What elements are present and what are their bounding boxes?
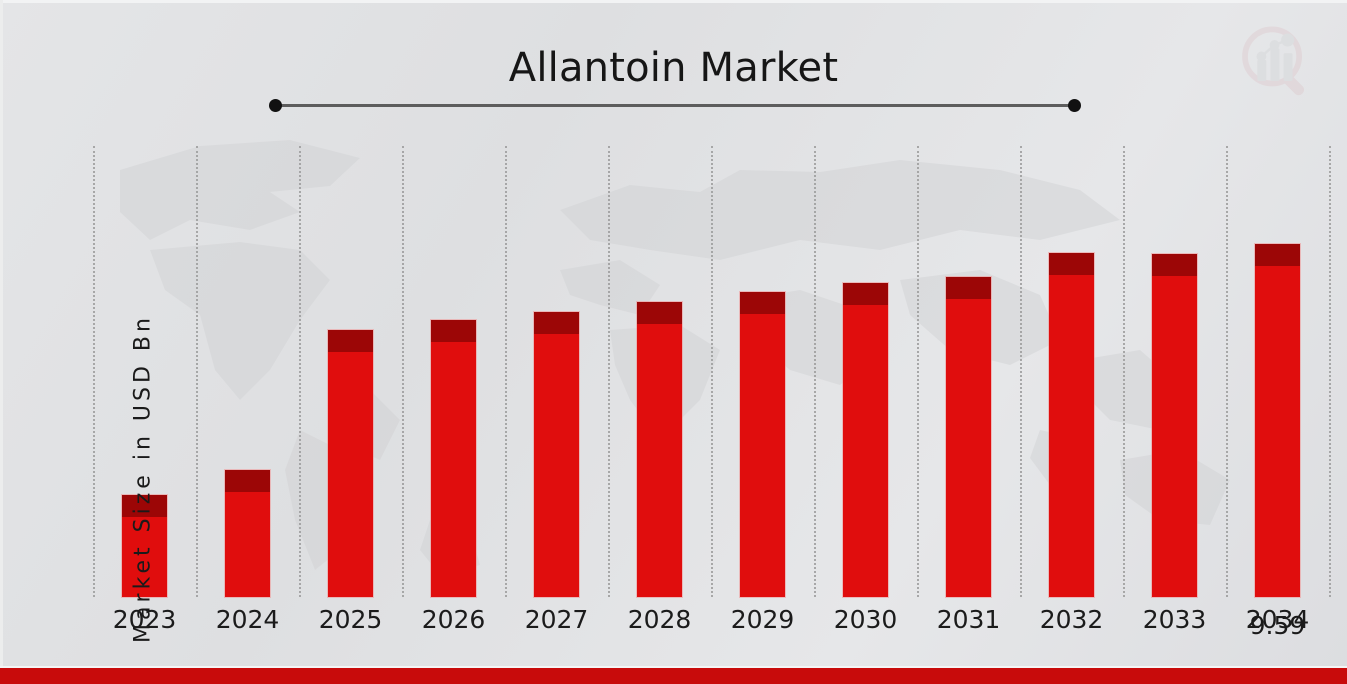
bar-cap-2024 bbox=[225, 470, 270, 492]
bar-2031[interactable] bbox=[946, 277, 991, 597]
page-title: Allantoin Market bbox=[0, 45, 1347, 91]
plot-area: 4.034.49.59 Market Size in USD Bn bbox=[93, 146, 1315, 597]
bar-2028[interactable] bbox=[637, 302, 682, 597]
bar-series: 4.034.49.59 bbox=[93, 146, 1315, 597]
bar-2032[interactable] bbox=[1049, 253, 1094, 597]
x-tick-2027: 2027 bbox=[505, 605, 608, 634]
x-tick-2031: 2031 bbox=[917, 605, 1020, 634]
gridline bbox=[1329, 146, 1331, 597]
bar-2026[interactable] bbox=[431, 320, 476, 597]
bar-cap-2030 bbox=[843, 283, 888, 305]
bar-2030[interactable] bbox=[843, 283, 888, 597]
bar-2024[interactable] bbox=[225, 470, 270, 597]
bar-2029[interactable] bbox=[740, 292, 785, 597]
magnifier-bar-chart-logo-icon bbox=[1229, 22, 1325, 104]
bottom-accent-band bbox=[0, 668, 1347, 684]
bar-cap-2029 bbox=[740, 292, 785, 314]
bar-cap-2034 bbox=[1255, 244, 1300, 266]
bar-2033[interactable] bbox=[1152, 254, 1197, 597]
x-tick-2033: 2033 bbox=[1123, 605, 1226, 634]
x-tick-2028: 2028 bbox=[608, 605, 711, 634]
x-tick-2030: 2030 bbox=[814, 605, 917, 634]
bar-cap-2025 bbox=[328, 330, 373, 352]
x-tick-2026: 2026 bbox=[402, 605, 505, 634]
bar-cap-2028 bbox=[637, 302, 682, 324]
title-underline-rule bbox=[275, 104, 1075, 107]
x-tick-2023: 2023 bbox=[93, 605, 196, 634]
bar-cap-2032 bbox=[1049, 253, 1094, 275]
bar-2025[interactable] bbox=[328, 330, 373, 597]
bar-cap-2031 bbox=[946, 277, 991, 299]
x-tick-2032: 2032 bbox=[1020, 605, 1123, 634]
bar-cap-2033 bbox=[1152, 254, 1197, 276]
x-tick-2025: 2025 bbox=[299, 605, 402, 634]
x-axis-ticks: 2023202420252026202720282029203020312032… bbox=[93, 605, 1315, 651]
bar-cap-2026 bbox=[431, 320, 476, 342]
bar-2027[interactable] bbox=[534, 312, 579, 597]
top-edge-divider bbox=[0, 0, 1347, 3]
x-tick-2029: 2029 bbox=[711, 605, 814, 634]
left-edge-divider bbox=[0, 0, 3, 668]
bar-2034[interactable] bbox=[1255, 244, 1300, 597]
x-tick-2034: 2034 bbox=[1226, 605, 1329, 634]
infographic-canvas: Allantoin Market 4.034.49.59 Market Size… bbox=[0, 0, 1347, 684]
x-tick-2024: 2024 bbox=[196, 605, 299, 634]
bar-cap-2027 bbox=[534, 312, 579, 334]
